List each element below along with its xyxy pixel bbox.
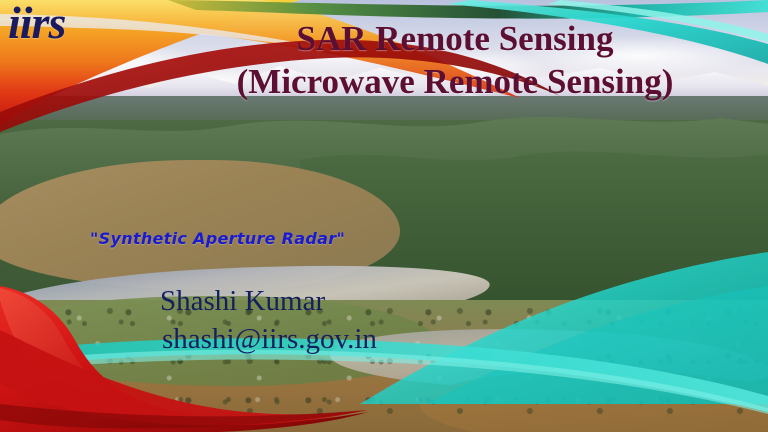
slide-subtitle: "Synthetic Aperture Radar"	[90, 229, 345, 248]
title-line-2: (Microwave Remote Sensing)	[150, 61, 760, 104]
presentation-slide: iirs SAR Remote Sensing (Microwave Remot…	[0, 0, 768, 432]
title-line-1: SAR Remote Sensing	[150, 18, 760, 61]
iirs-logo: iirs	[8, 0, 65, 49]
author-email: shashi@iirs.gov.in	[162, 320, 377, 358]
author-info: Shashi Kumar shashi@iirs.gov.in	[160, 282, 377, 359]
slide-title: SAR Remote Sensing (Microwave Remote Sen…	[150, 18, 760, 103]
author-name: Shashi Kumar	[160, 282, 377, 320]
